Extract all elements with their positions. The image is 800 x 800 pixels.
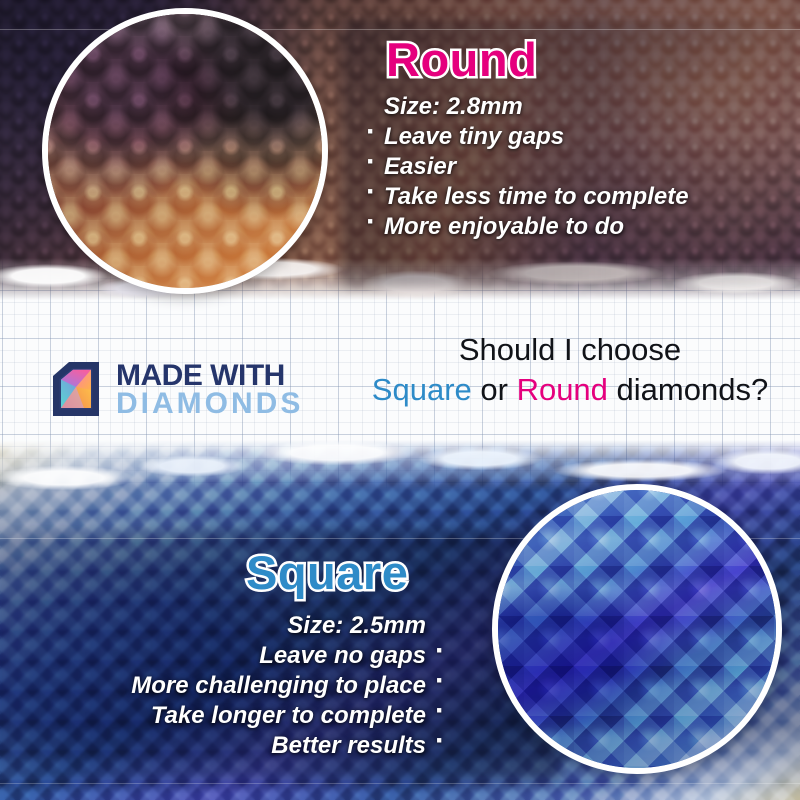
question-word-square: Square: [372, 372, 472, 407]
diamond-logo-icon: [48, 360, 104, 420]
list-item: Size: 2.5mm: [131, 611, 450, 641]
list-item: Easier: [360, 152, 689, 182]
round-section-title: Round: [386, 36, 537, 83]
question-line-2: Square or Round diamonds?: [340, 370, 800, 410]
list-item: Take less time to complete: [360, 182, 689, 212]
question-line-1: Should I choose: [340, 330, 800, 370]
list-item: Size: 2.8mm: [360, 92, 689, 122]
list-item: Leave tiny gaps: [360, 122, 689, 152]
square-spec-list: Size: 2.5mm Leave no gaps More challengi…: [131, 611, 450, 761]
square-diamonds-closeup-photo: [492, 484, 782, 774]
round-spec-list: Size: 2.8mm Leave tiny gaps Easier Take …: [360, 92, 689, 242]
list-item: Better results: [131, 731, 450, 761]
brand-word-bottom: DIAMONDS: [116, 390, 303, 418]
bottom-hairline-divider-2: [0, 783, 800, 784]
question-suffix: diamonds?: [608, 372, 768, 407]
infographic-canvas: Round Size: 2.8mm Leave tiny gaps Easier…: [0, 0, 800, 800]
list-item: Leave no gaps: [131, 641, 450, 671]
question-conjunction: or: [472, 372, 517, 407]
question-block: Should I choose Square or Round diamonds…: [340, 330, 800, 410]
brand-wordmark: MADE WITH DIAMONDS: [116, 362, 303, 418]
list-item: More enjoyable to do: [360, 212, 689, 242]
question-word-round: Round: [517, 372, 608, 407]
list-item: Take longer to complete: [131, 701, 450, 731]
round-diamonds-closeup-photo: [42, 8, 328, 294]
list-item: More challenging to place: [131, 671, 450, 701]
square-section-title: Square: [246, 549, 408, 596]
brand-word-top: MADE WITH: [116, 362, 303, 390]
brand-logo: MADE WITH DIAMONDS: [48, 360, 303, 420]
